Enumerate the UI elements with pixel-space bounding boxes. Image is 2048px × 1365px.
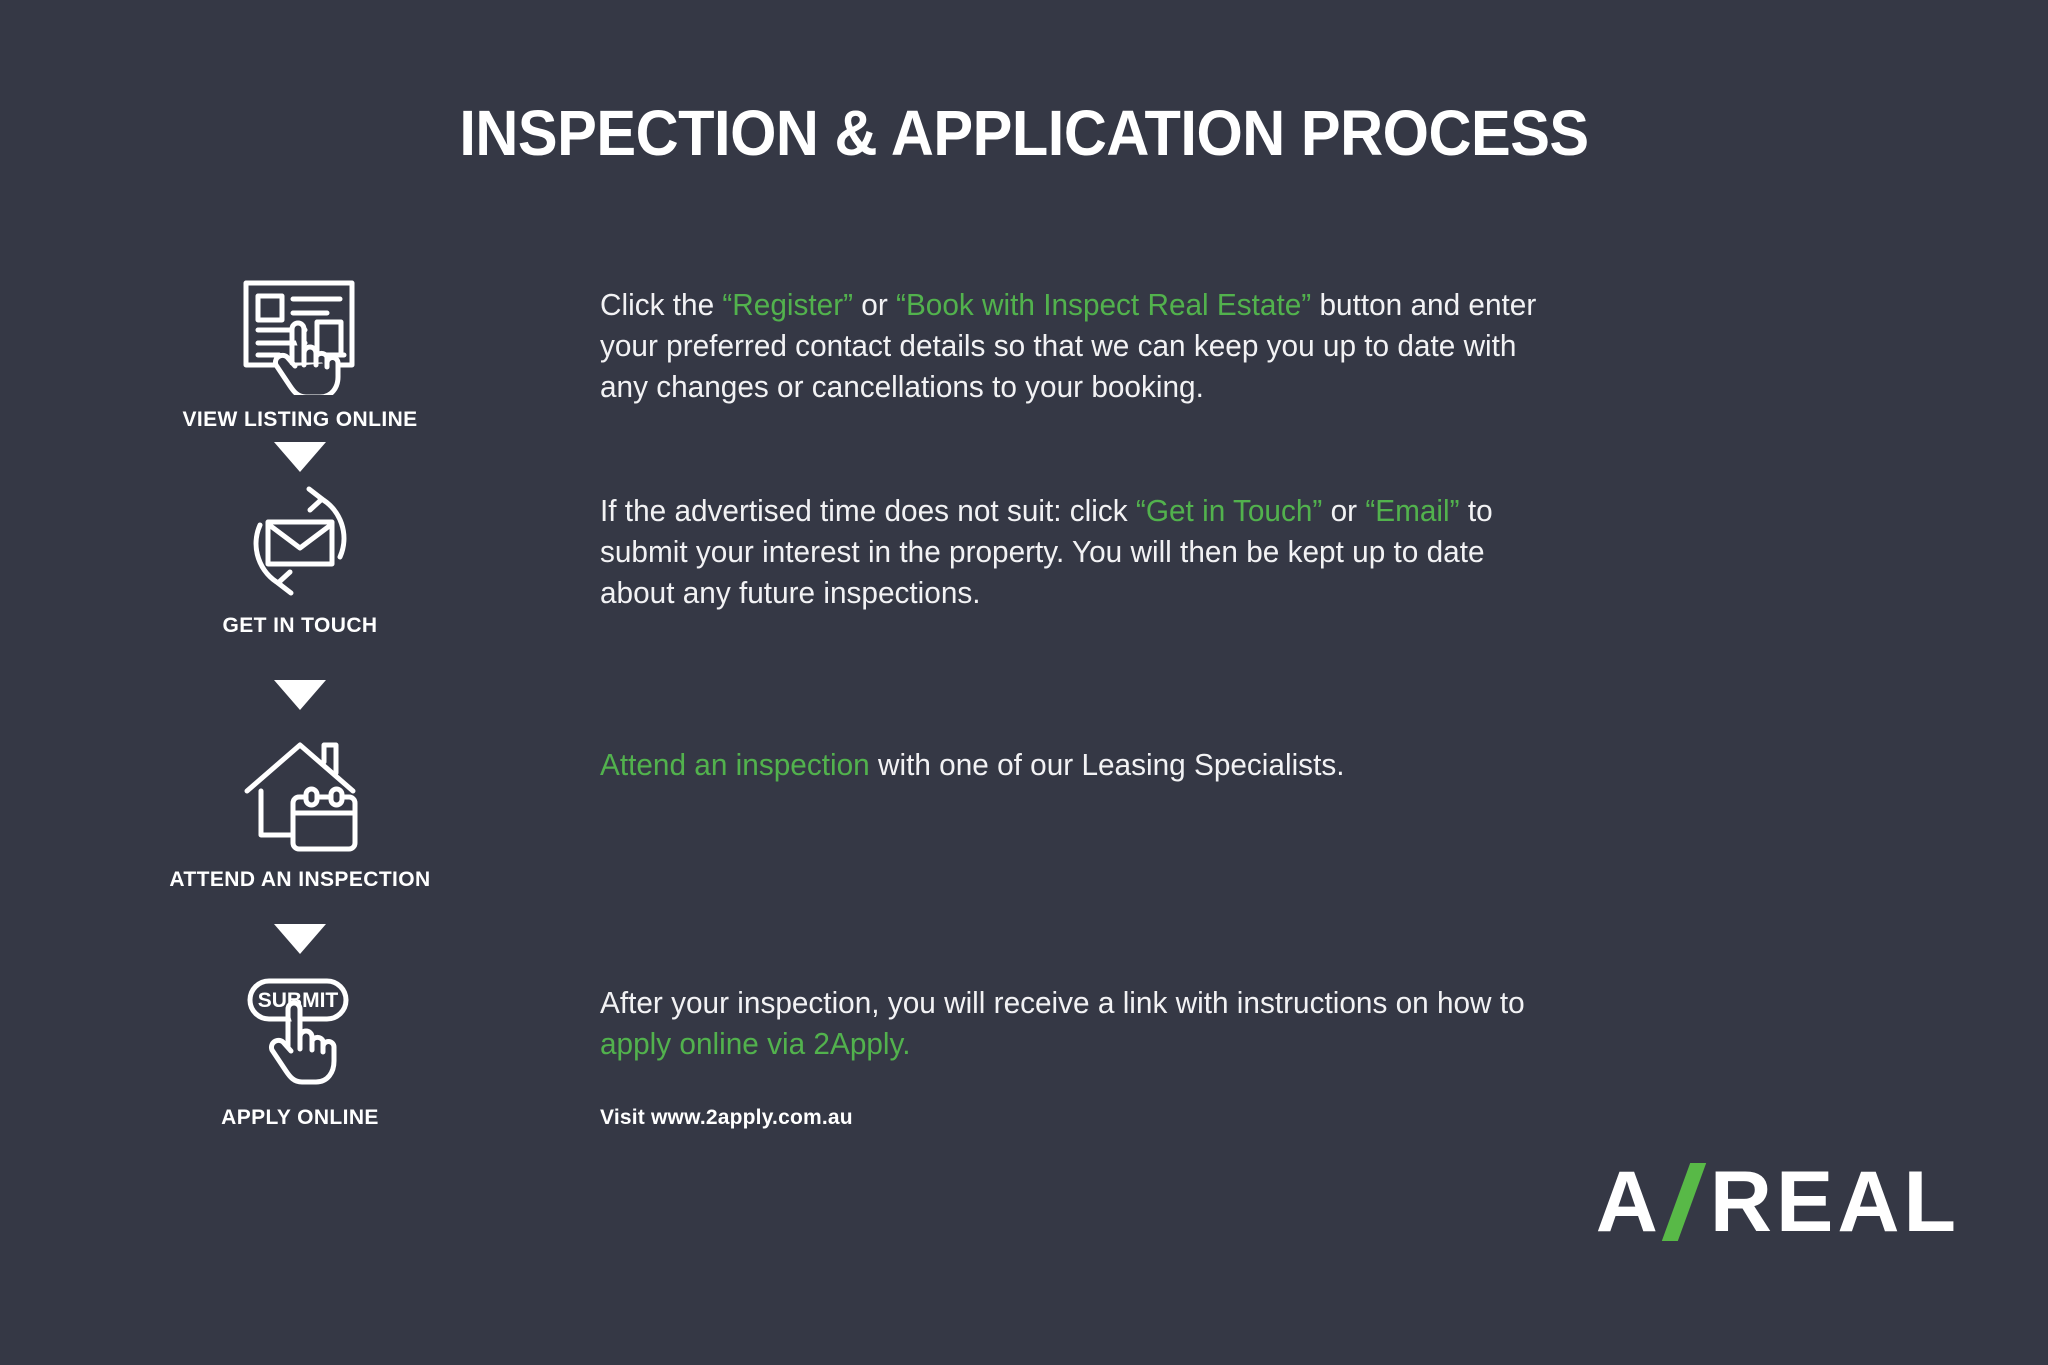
visit-url-note: Visit www.2apply.com.au xyxy=(600,1106,1958,1130)
text-segment-highlight: “Book with Inspect Real Estate” xyxy=(896,287,1311,322)
step-icon-column: SUBMIT APPLY ONLINE xyxy=(0,978,600,1130)
page-title: INSPECTION & APPLICATION PROCESS xyxy=(72,96,1977,170)
step-view-listing-online: VIEW LISTING ONLINE Click the “Register”… xyxy=(0,280,2048,432)
text-segment: or xyxy=(853,287,896,322)
logo-slash-icon xyxy=(1662,1163,1706,1241)
flow-arrow-2 xyxy=(0,680,600,710)
text-segment-highlight: “Get in Touch” xyxy=(1136,493,1322,528)
text-segment: or xyxy=(1322,493,1365,528)
step-label: APPLY ONLINE xyxy=(221,1106,379,1130)
step-text-column: Click the “Register” or “Book with Inspe… xyxy=(600,280,2048,408)
text-segment-highlight: “Register” xyxy=(722,287,853,322)
step-get-in-touch: GET IN TOUCH If the advertised time does… xyxy=(0,486,2048,638)
logo-text-real: REAL xyxy=(1710,1159,1960,1245)
flow-arrow-1 xyxy=(0,442,600,472)
step-icon-column: VIEW LISTING ONLINE xyxy=(0,280,600,432)
step-paragraph: After your inspection, you will receive … xyxy=(600,982,1546,1064)
text-segment-highlight: apply online via 2Apply. xyxy=(600,1026,910,1061)
down-triangle-icon xyxy=(274,442,326,472)
listing-click-icon xyxy=(225,280,375,390)
step-label: GET IN TOUCH xyxy=(223,614,378,638)
text-segment: After your inspection, you will receive … xyxy=(600,985,1525,1020)
text-segment-highlight: Attend an inspection xyxy=(600,747,870,782)
down-triangle-icon xyxy=(274,680,326,710)
text-segment: If the advertised time does not suit: cl… xyxy=(600,493,1136,528)
text-segment: with one of our Leasing Specialists. xyxy=(870,747,1345,782)
down-triangle-icon xyxy=(274,924,326,954)
process-steps: VIEW LISTING ONLINE Click the “Register”… xyxy=(0,280,2048,1130)
logo-text-a: A xyxy=(1596,1159,1662,1245)
step-paragraph: Attend an inspection with one of our Lea… xyxy=(600,744,1546,785)
step-paragraph: If the advertised time does not suit: cl… xyxy=(600,490,1546,614)
step-attend-an-inspection: ATTEND AN INSPECTION Attend an inspectio… xyxy=(0,740,2048,892)
text-segment-highlight: “Email” xyxy=(1365,493,1459,528)
email-refresh-icon xyxy=(225,486,375,596)
step-icon-column: ATTEND AN INSPECTION xyxy=(0,740,600,892)
step-text-column: After your inspection, you will receive … xyxy=(600,978,2048,1130)
house-calendar-icon xyxy=(225,740,375,850)
step-apply-online: SUBMIT APPLY ONLINE After your inspectio… xyxy=(0,978,2048,1130)
step-icon-column: GET IN TOUCH xyxy=(0,486,600,638)
step-label: ATTEND AN INSPECTION xyxy=(169,868,430,892)
step-paragraph: Click the “Register” or “Book with Inspe… xyxy=(600,284,1546,408)
step-text-column: If the advertised time does not suit: cl… xyxy=(600,486,2048,614)
step-text-column: Attend an inspection with one of our Lea… xyxy=(600,740,2048,785)
brand-logo: A REAL xyxy=(1596,1159,1960,1245)
flow-arrow-3 xyxy=(0,924,600,954)
step-label: VIEW LISTING ONLINE xyxy=(182,408,417,432)
submit-button-click-icon: SUBMIT xyxy=(225,978,375,1088)
text-segment: Click the xyxy=(600,287,722,322)
